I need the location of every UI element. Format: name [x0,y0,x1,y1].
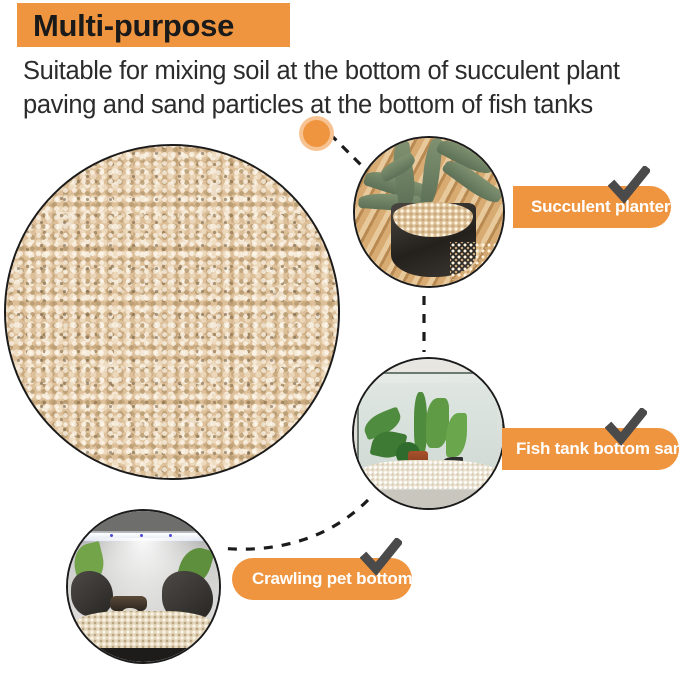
succulent-scene [355,138,503,286]
aquarium-scene [354,359,503,508]
terrarium-gravel-substrate [71,611,216,650]
terrarium-base [68,648,219,662]
scattered-gravel [450,242,500,280]
led-dot-icon [169,534,172,537]
gravel-texture [6,146,338,478]
infographic-canvas: Multi-purpose Suitable for mixing soil a… [0,0,679,674]
subtitle-line-2: paving and sand particles at the bottom … [23,89,668,123]
check-icon [605,408,647,450]
photo-succulent-plant-in-pot [353,136,505,288]
led-dot-icon [140,534,143,537]
subtitle-line-1: Suitable for mixing soil at the bottom o… [23,57,620,85]
led-dot-icon [110,534,113,537]
label-succulent-planters-text: Succulent planters [531,197,679,217]
orange-dot-icon [303,120,330,147]
label-fish-tank-bottom-sand-text: Fish tank bottom sand [516,439,679,459]
gravel-grain-layer-d [6,146,338,478]
page-title-badge: Multi-purpose [17,3,290,47]
subtitle-text: Suitable for mixing soil at the bottom o… [23,55,668,122]
aquarium-sand-substrate [358,460,498,488]
photo-natural-gravel-pile [4,144,340,480]
check-icon [608,166,650,208]
terrarium-hood [68,511,219,531]
check-icon [360,538,402,580]
photo-reptile-terrarium [66,509,221,664]
photo-planted-aquarium [352,357,505,510]
connector-fishtank-to-pet [220,500,368,549]
terrarium-scene [68,511,219,662]
label-fish-tank-bottom-sand[interactable]: Fish tank bottom sand [502,428,679,470]
aquarium-stand [354,490,503,508]
page-title: Multi-purpose [33,10,234,41]
terrarium-rock [71,571,113,616]
